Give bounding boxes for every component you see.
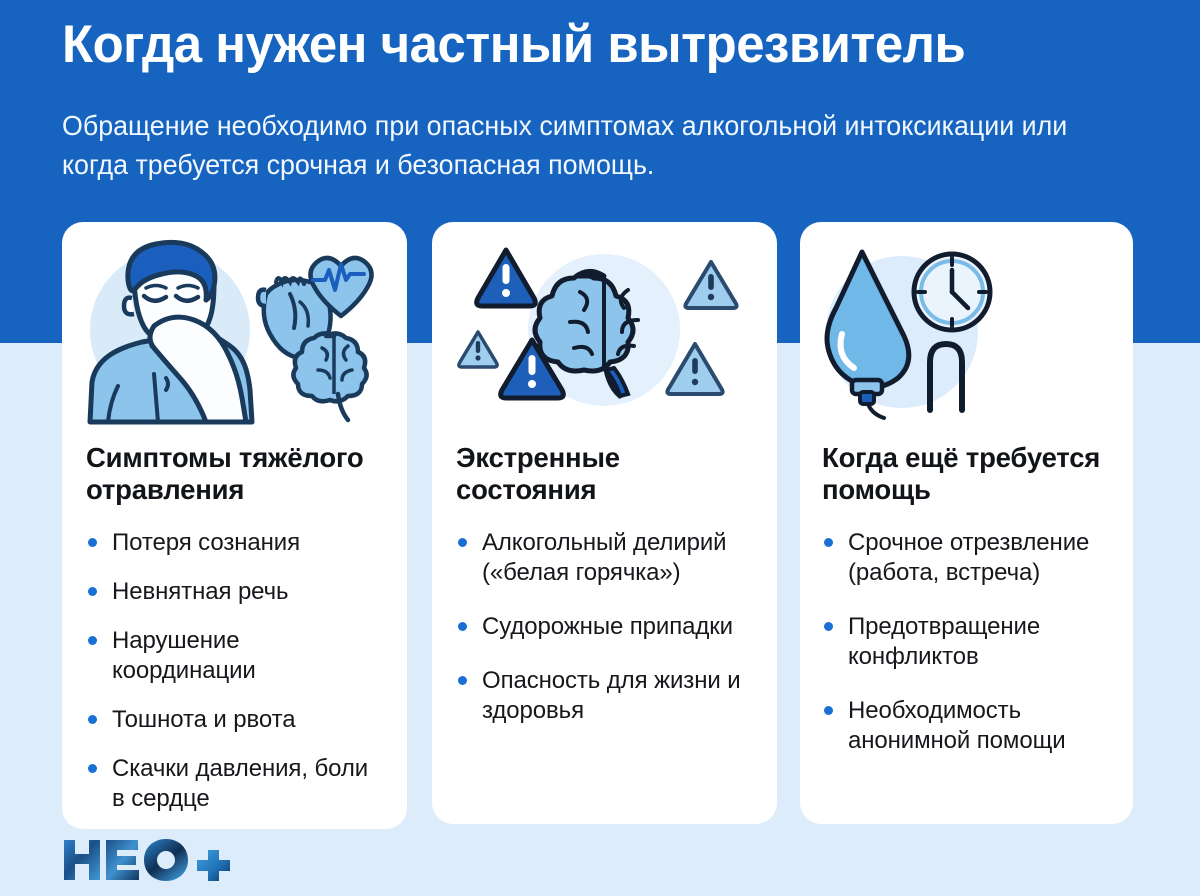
sick-man-heart-brain-illustration (62, 222, 407, 430)
card-heading: Когда ещё требуется помощь (822, 442, 1111, 506)
list-item: Предотвращение конфликтов (822, 612, 1111, 672)
warning-triangle-icon (685, 262, 736, 308)
warning-triangle-icon (459, 332, 497, 367)
warning-triangle-icon (477, 250, 536, 306)
list-item: Невнятная речь (86, 577, 383, 607)
list-item: Тошнота и рвота (86, 705, 383, 735)
list-item: Скачки давления, боли в сердце (86, 754, 383, 814)
card-when-else-help-needed: Когда ещё требуется помощь Срочное отрез… (800, 222, 1133, 824)
list-item: Необходимость анонимной помощи (822, 696, 1111, 756)
list-item: Судорожные припадки (456, 612, 753, 642)
neo-plus-logo (62, 838, 242, 882)
infographic-page: Когда нужен частный вытрезвитель Обращен… (0, 0, 1200, 896)
card-emergency-conditions: Экстренные состояния Алкогольный делирий… (432, 222, 777, 824)
page-subtitle: Обращение необходимо при опасных симптом… (62, 106, 1096, 184)
bullet-list: Потеря сознания Невнятная речь Нарушение… (86, 528, 383, 814)
clock-icon (914, 254, 990, 330)
list-item: Нарушение координации (86, 626, 383, 686)
brain-warning-triangles-illustration (432, 222, 777, 430)
list-item: Алкогольный делирий («белая горячка») (456, 528, 753, 588)
list-item: Потеря сознания (86, 528, 383, 558)
brain-icon (293, 333, 366, 420)
bullet-list: Алкогольный делирий («белая горячка») Су… (456, 528, 753, 726)
page-title: Когда нужен частный вытрезвитель (62, 16, 1118, 73)
card-heading: Симптомы тяжёлого отравления (86, 442, 383, 506)
iv-drip-clock-illustration (800, 222, 1133, 430)
card-heading: Экстренные состояния (456, 442, 753, 506)
list-item: Опасность для жизни и здоровья (456, 666, 753, 726)
card-severe-poisoning: Симптомы тяжёлого отравления Потеря созн… (62, 222, 407, 829)
bullet-list: Срочное отрезвление (работа, встреча) Пр… (822, 528, 1111, 756)
list-item: Срочное отрезвление (работа, встреча) (822, 528, 1111, 588)
